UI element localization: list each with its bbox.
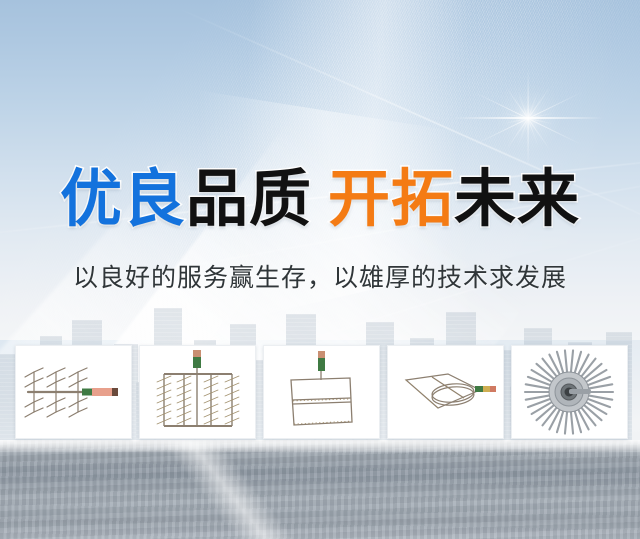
pavement-ground xyxy=(0,440,640,539)
loop-frame-rack-icon xyxy=(388,346,503,438)
flare-ray xyxy=(527,70,528,166)
headline-segment-4: 未来 xyxy=(454,166,580,231)
headline-segment-3: 开拓 xyxy=(328,166,454,231)
flare-ray xyxy=(474,91,582,145)
ground-horizon-glow xyxy=(0,440,640,452)
product-card[interactable]: 多层梳齿式电镀挂具 xyxy=(15,345,132,439)
flare-ray xyxy=(502,112,553,124)
headline: 优良品质 开拓未来 xyxy=(0,166,640,231)
comb-rack-icon xyxy=(16,346,131,438)
product-card[interactable]: 放射状圆盘挂具 xyxy=(511,345,628,439)
flare-ray xyxy=(502,112,553,124)
product-card[interactable]: 圆环方框挂具 xyxy=(387,345,504,439)
flare-ray xyxy=(517,90,538,147)
ladder-rack-icon xyxy=(140,346,255,438)
ground-texture xyxy=(0,440,640,539)
frame-rack-icon xyxy=(264,346,379,438)
flare-ray xyxy=(505,86,550,150)
flare-ray xyxy=(474,91,582,145)
flare-ray xyxy=(517,90,538,147)
product-card[interactable]: 双排梳齿挂架 xyxy=(139,345,256,439)
headline-segment-2: 品质 xyxy=(186,166,312,231)
headline-segment-1: 优良 xyxy=(60,166,186,231)
product-card[interactable]: 方框两层挂具 xyxy=(263,345,380,439)
star-flare-icon xyxy=(527,117,529,119)
sunburst-rack-icon xyxy=(512,346,627,438)
headline-spacer xyxy=(312,166,328,231)
flare-ray xyxy=(453,117,603,118)
promo-banner: 优良品质 开拓未来 以良好的服务赢生存，以雄厚的技术求发展 多层梳齿式电镀挂具 xyxy=(0,0,640,539)
subtitle: 以良好的服务赢生存，以雄厚的技术求发展 xyxy=(0,258,640,294)
product-thumbnail-row: 多层梳齿式电镀挂具 xyxy=(15,345,628,437)
flare-ray xyxy=(505,86,550,150)
